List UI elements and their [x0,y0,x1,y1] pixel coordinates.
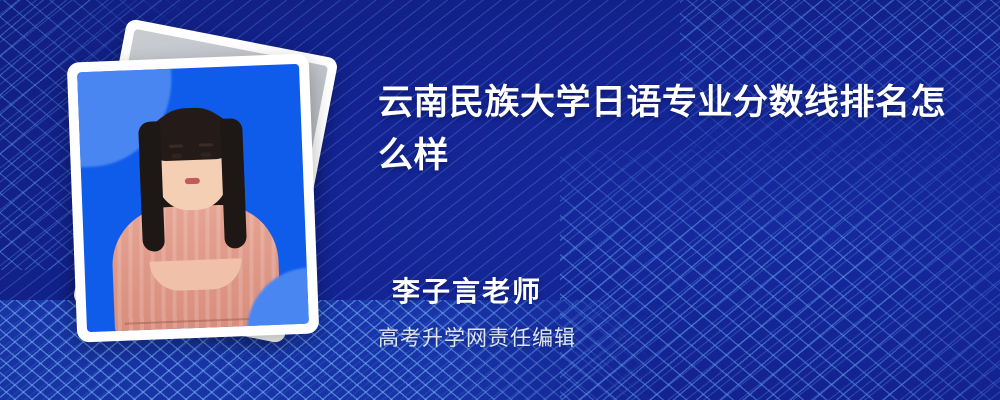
portrait-eye-left [171,153,182,158]
author-portrait-photo [77,64,309,332]
article-title: 云南民族大学日语专业分数线排名怎么样 [378,76,958,182]
author-role: 高考升学网责任编辑 [378,322,576,352]
portrait-eye-right [200,152,211,157]
photo-frame-front [67,53,320,342]
portrait-figure [77,64,309,332]
text-column: 云南民族大学日语专业分数线排名怎么样 李子言老师 高考升学网责任编辑 [378,0,978,400]
portrait-eyebrow-left [169,144,183,148]
portrait-hair-right-strand [220,118,247,249]
portrait-eyebrow-right [199,143,213,147]
article-cover-banner: 云南民族大学日语专业分数线排名怎么样 李子言老师 高考升学网责任编辑 [0,0,1000,400]
photo-stack [60,36,340,356]
author-name: 李子言老师 [392,270,542,310]
portrait-mouth [185,178,200,185]
